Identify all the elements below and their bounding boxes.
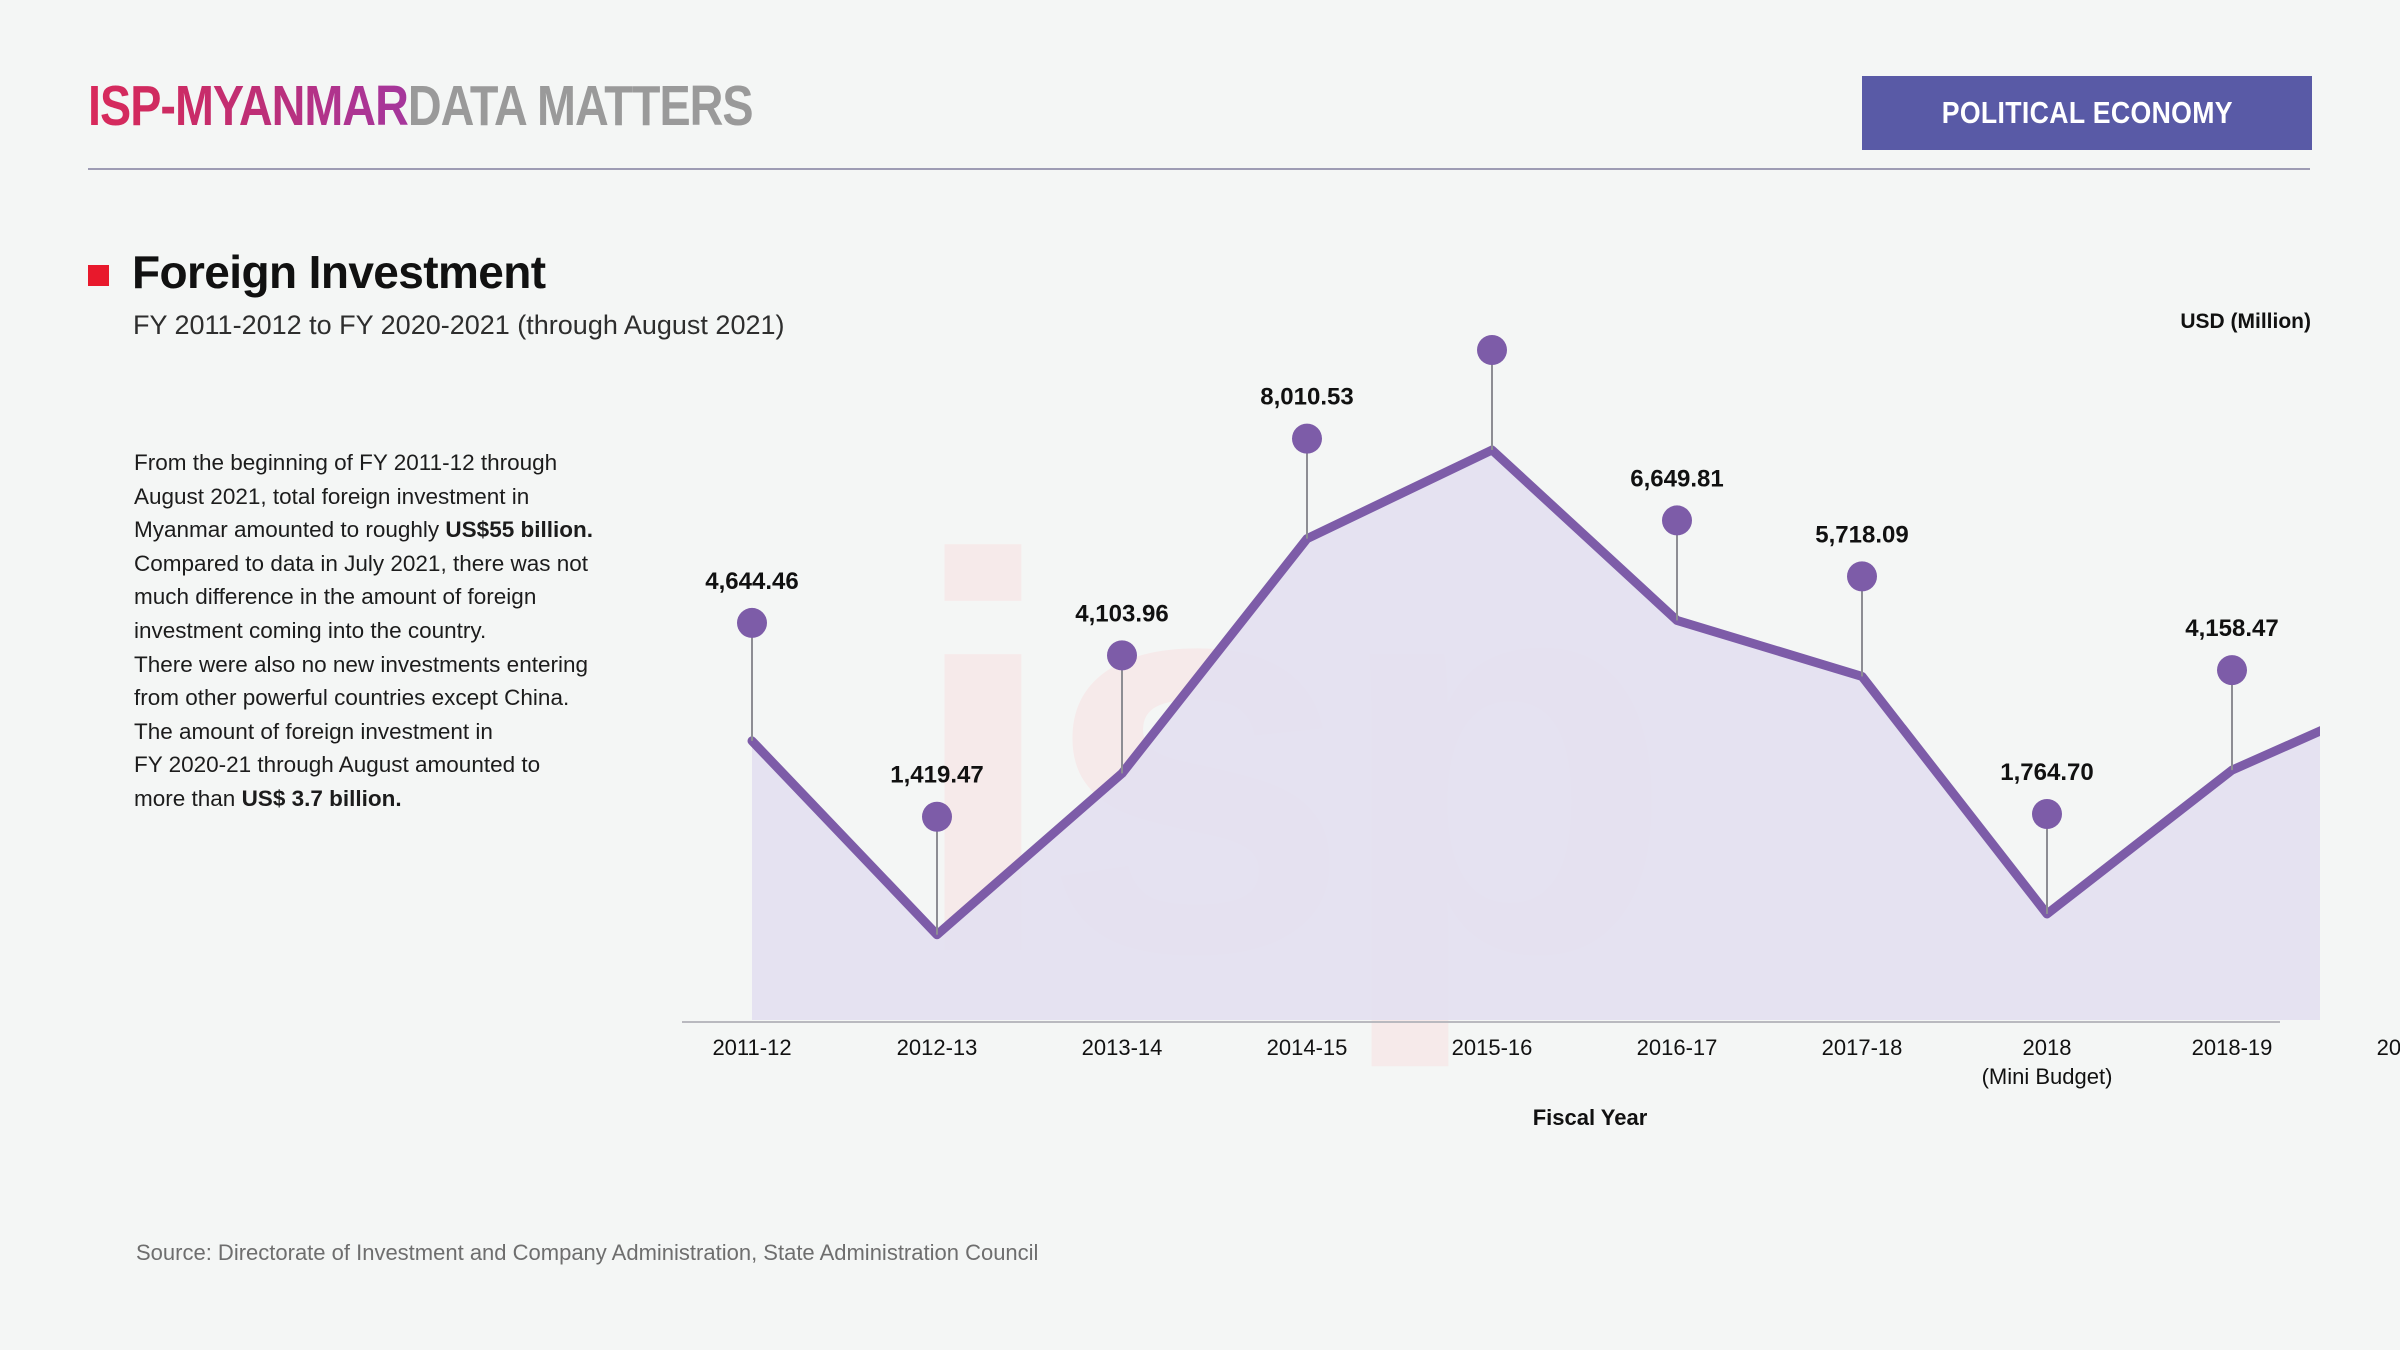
x-axis-tick-line: 2011-12: [712, 1033, 791, 1062]
data-point[interactable]: 4,644.46: [705, 568, 798, 741]
brand-logo-primary: ISP-MYANMAR: [88, 74, 408, 138]
x-axis-tick-line: 2013-14: [1082, 1033, 1163, 1062]
x-axis-tick-label: 2019-20: [2377, 1033, 2400, 1062]
x-axis-tick-line: 2016-17: [1637, 1033, 1718, 1062]
blurb-line-7: There were also no new investments enter…: [134, 652, 588, 677]
blurb-line-11: more than: [134, 786, 242, 811]
data-point-marker[interactable]: [2032, 799, 2062, 829]
summary-paragraph: From the beginning of FY 2011-12 through…: [134, 446, 664, 816]
x-axis-tick-line: 2015-16: [1452, 1033, 1533, 1062]
x-axis-tick-line: 2014-15: [1267, 1033, 1348, 1062]
brand-logo-secondary: DATA MATTERS: [408, 74, 753, 138]
data-point-marker[interactable]: [1292, 424, 1322, 454]
x-axis-tick-label: 2015-16: [1452, 1033, 1533, 1062]
data-point-marker[interactable]: [1662, 505, 1692, 535]
data-point-label: 1,764.70: [2000, 759, 2093, 786]
blurb-line-5: much difference in the amount of foreign: [134, 584, 536, 609]
header-divider: [88, 168, 2310, 170]
x-axis-tick-label: 2018-19: [2192, 1033, 2273, 1062]
infographic-page: ISP-MYANMARDATA MATTERS POLITICAL ECONOM…: [0, 0, 2400, 1350]
blurb-line-10: FY 2020-21 through August amounted to: [134, 752, 540, 777]
data-point-marker[interactable]: [922, 802, 952, 832]
data-point-label: 4,103.96: [1075, 600, 1168, 627]
title-bullet-icon: [88, 265, 109, 286]
x-axis-tick-line: (Mini Budget): [1982, 1062, 2113, 1091]
data-point-label: 4,158.47: [2185, 615, 2278, 642]
page-title: Foreign Investment: [132, 245, 546, 299]
blurb-line-4: Compared to data in July 2021, there was…: [134, 551, 588, 576]
blurb-line-3: Myanmar amounted to roughly: [134, 517, 445, 542]
x-axis-tick-line: 2017-18: [1822, 1033, 1903, 1062]
blurb-line-8: from other powerful countries except Chi…: [134, 685, 569, 710]
brand-logo: ISP-MYANMARDATA MATTERS: [88, 78, 753, 135]
x-axis-tick-label: 2012-13: [897, 1033, 978, 1062]
chart-canvas: isp4,644.461,419.474,103.968,010.539,486…: [640, 330, 2320, 1120]
data-point[interactable]: 9,486.12: [1445, 330, 1538, 450]
category-badge: POLITICAL ECONOMY: [1862, 76, 2312, 150]
x-axis-tick-label: 2013-14: [1082, 1033, 1163, 1062]
x-axis-tick-line: 2018-19: [2192, 1033, 2273, 1062]
blurb-line-6: investment coming into the country.: [134, 618, 486, 643]
x-axis-tick-line: 2018: [1982, 1033, 2113, 1062]
data-point-label: 5,718.09: [1815, 521, 1908, 548]
blurb-line-2: August 2021, total foreign investment in: [134, 484, 529, 509]
data-point-marker[interactable]: [1847, 561, 1877, 591]
x-axis-tick-label: 2018(Mini Budget): [1982, 1033, 2113, 1091]
x-axis-title: Fiscal Year: [1533, 1105, 1648, 1131]
x-axis-tick-label: 2011-12: [712, 1033, 791, 1062]
blurb-highlight-total: US$55 billion.: [445, 517, 593, 542]
blurb-line-1: From the beginning of FY 2011-12 through: [134, 450, 557, 475]
x-axis-tick-line: 2019-20: [2377, 1033, 2400, 1062]
chart-x-axis: 2011-122012-132013-142014-152015-162016-…: [640, 1025, 2320, 1115]
data-point-marker[interactable]: [1107, 640, 1137, 670]
data-point-label: 1,419.47: [890, 762, 983, 789]
data-point-marker[interactable]: [737, 608, 767, 638]
data-point[interactable]: 4,158.47: [2185, 615, 2278, 770]
data-point-label: 4,644.46: [705, 568, 798, 595]
x-axis-tick-label: 2016-17: [1637, 1033, 1718, 1062]
foreign-investment-area-chart: isp4,644.461,419.474,103.968,010.539,486…: [640, 330, 2320, 1120]
category-badge-label: POLITICAL ECONOMY: [1941, 95, 2232, 131]
x-axis-tick-label: 2017-18: [1822, 1033, 1903, 1062]
source-note: Source: Directorate of Investment and Co…: [136, 1240, 1038, 1266]
blurb-highlight-fy2021: US$ 3.7 billion.: [242, 786, 402, 811]
data-point-label: 8,010.53: [1260, 384, 1353, 411]
blurb-line-9: The amount of foreign investment in: [134, 719, 493, 744]
x-axis-tick-label: 2014-15: [1267, 1033, 1348, 1062]
data-point[interactable]: 5,718.09: [1815, 521, 1908, 676]
x-axis-tick-line: 2012-13: [897, 1033, 978, 1062]
data-point-marker[interactable]: [2217, 655, 2247, 685]
data-point-label: 6,649.81: [1630, 465, 1723, 492]
data-point-marker[interactable]: [1477, 335, 1507, 365]
page-header: ISP-MYANMARDATA MATTERS POLITICAL ECONOM…: [0, 0, 2400, 190]
